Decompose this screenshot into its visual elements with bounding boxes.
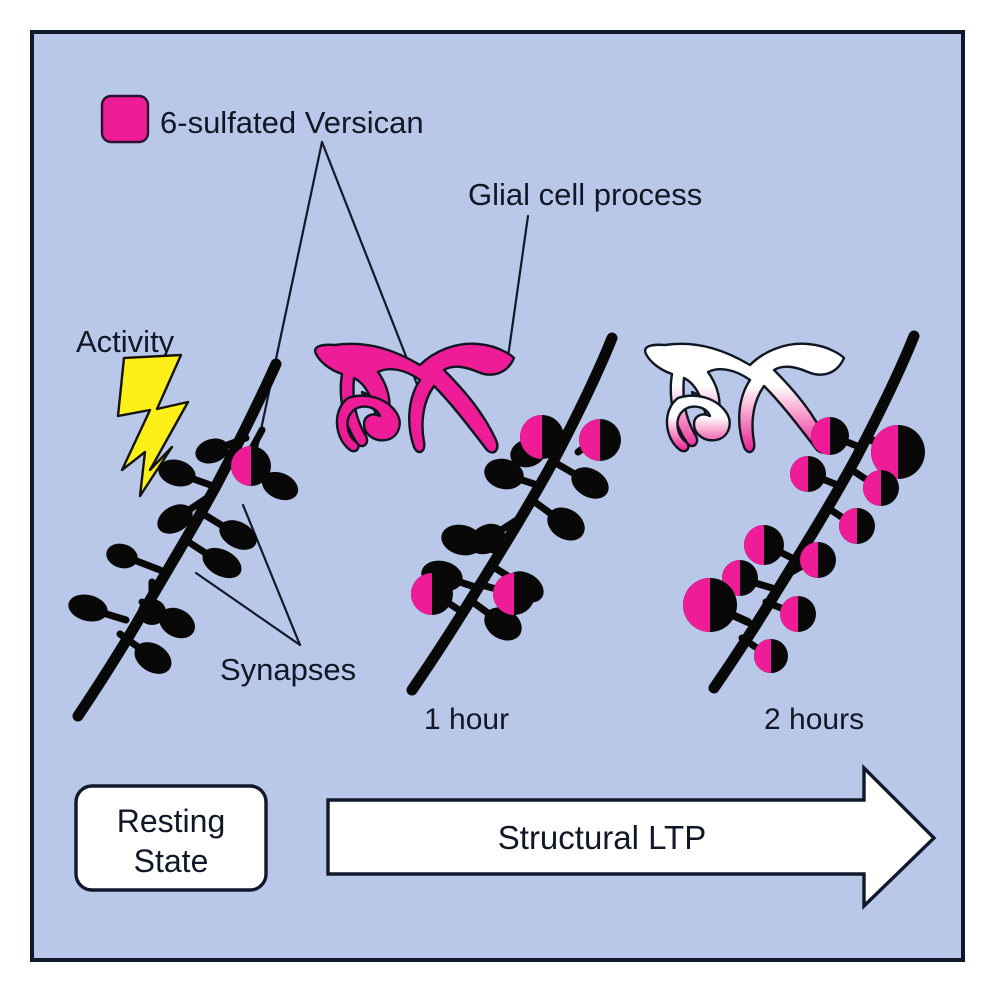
versican-synapse-2h-d (790, 456, 840, 492)
leader-glial (508, 216, 528, 357)
timeline-bar: Resting State Structural LTP (76, 768, 934, 906)
versican-synapse-2h-k (742, 638, 788, 673)
versican-synapse-2h-i (766, 596, 816, 632)
versican-swatch (102, 96, 148, 142)
time-label-one-hour: 1 hour (424, 703, 509, 736)
legend-label: 6-sulfated Versican (160, 105, 424, 140)
glial-callout-label: Glial cell process (468, 177, 702, 212)
panel-one-hour: 1 hour (315, 338, 621, 736)
figure-canvas: 6-sulfated Versican Glial cell process S… (0, 0, 995, 992)
structural-ltp-label: Structural LTP (498, 819, 706, 856)
time-label-two-hours: 2 hours (764, 703, 864, 736)
versican-synapse-1h-b (578, 419, 621, 461)
figure-stage: 6-sulfated Versican Glial cell process S… (0, 0, 995, 992)
panel-two-hours: 2 hours (645, 336, 925, 736)
synapses-callout-label: Synapses (220, 652, 356, 687)
activity-label: Activity (76, 324, 175, 359)
versican-synapse-2h-f (744, 525, 796, 565)
resting-state-line2: State (134, 843, 209, 879)
resting-state-line1: Resting (117, 803, 226, 839)
versican-synapse-2h-c (852, 470, 899, 506)
legend: 6-sulfated Versican (102, 96, 424, 142)
versican-synapse-2h-e (828, 508, 875, 544)
leader-versican-left (255, 142, 322, 458)
